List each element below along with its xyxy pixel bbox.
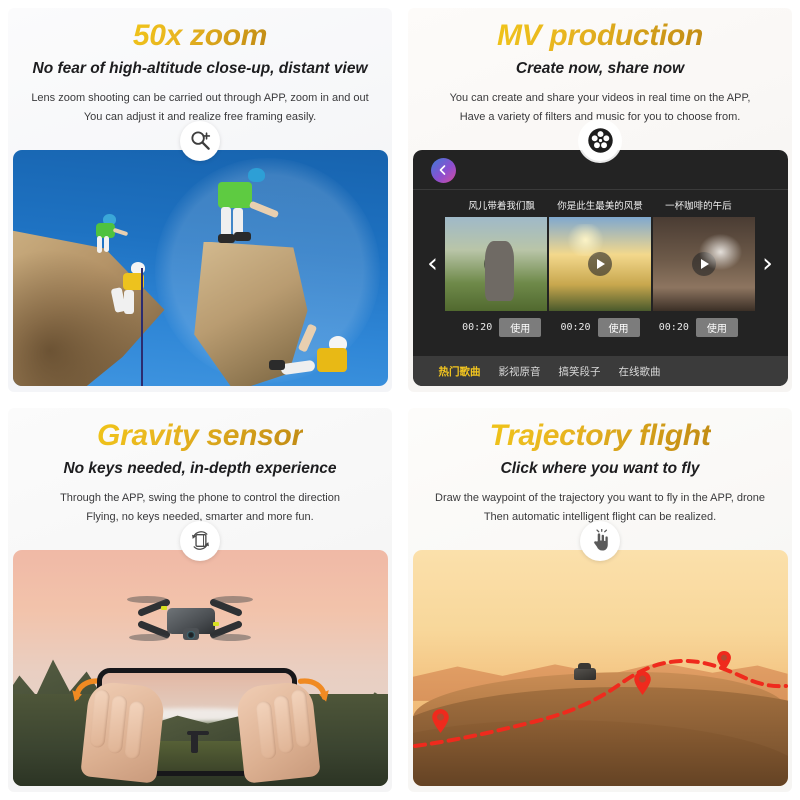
clip-duration: 00:20 <box>560 322 590 333</box>
tab-movie-audio[interactable]: 影视原音 <box>499 364 541 379</box>
media-mv: 风儿带着我们飘 你是此生最美的风景 一杯咖啡的午后 ‹ <box>413 140 788 401</box>
panel-gravity-sensor: Gravity sensor No keys needed, in-depth … <box>0 400 400 800</box>
panel-headline: 50x zoom <box>133 21 267 51</box>
clip-duration: 00:20 <box>462 322 492 333</box>
climber-figure <box>208 168 286 254</box>
tab-hot-songs[interactable]: 热门歌曲 <box>439 364 481 379</box>
clip-title-row: 风儿带着我们飘 你是此生最美的风景 一杯咖啡的午后 <box>413 190 788 212</box>
use-clip-button[interactable]: 使用 <box>696 318 738 337</box>
waypoint-pin[interactable] <box>431 708 450 734</box>
media-gravity <box>13 540 388 800</box>
right-hand <box>235 680 321 783</box>
clip-thumbnail[interactable] <box>549 217 651 311</box>
waypoint-pin[interactable] <box>716 650 732 672</box>
use-clip-button[interactable]: 使用 <box>499 318 541 337</box>
chevron-left-icon <box>437 164 449 176</box>
climber-figure <box>275 318 359 387</box>
drone-phone-photo <box>13 550 388 787</box>
feature-grid: 50x zoom No fear of high-altitude close-… <box>0 0 800 800</box>
use-clip-button[interactable]: 使用 <box>598 318 640 337</box>
panel-headline: Gravity sensor <box>97 421 303 451</box>
music-category-tabs: 热门歌曲 影视原音 搞笑段子 在线歌曲 <box>413 356 788 386</box>
clip-thumbnail[interactable] <box>653 217 755 311</box>
clip-title: 一杯咖啡的午后 <box>649 198 747 212</box>
panel-subhead: Create now, share now <box>516 60 684 78</box>
magnifier-plus-icon <box>180 121 220 161</box>
panel-headline: Trajectory flight <box>489 421 710 451</box>
panel-subhead: Click where you want to fly <box>501 460 700 478</box>
desc-line-1: Through the APP, swing the phone to cont… <box>60 492 340 504</box>
waypoint-pin[interactable] <box>633 670 652 696</box>
clip-meta-row: 00:20 使用 00:20 使用 00:20 使用 <box>413 311 788 337</box>
panel-zoom: 50x zoom No fear of high-altitude close-… <box>0 0 400 400</box>
desc-line-1: Draw the waypoint of the trajectory you … <box>435 492 765 504</box>
panel-subhead: No fear of high-altitude close-up, dista… <box>33 60 368 78</box>
climber-figure <box>109 262 153 338</box>
film-reel-icon <box>580 121 620 161</box>
panel-mv-production: MV production Create now, share now You … <box>400 0 800 400</box>
clip-title: 风儿带着我们飘 <box>453 198 551 212</box>
drone <box>131 592 249 650</box>
tab-online-songs[interactable]: 在线歌曲 <box>619 364 661 379</box>
tap-hand-icon <box>580 521 620 561</box>
tab-funny-clips[interactable]: 搞笑段子 <box>559 364 601 379</box>
clip-title: 你是此生最美的风景 <box>551 198 649 212</box>
panel-headline: MV production <box>497 21 703 51</box>
left-hand <box>80 680 166 783</box>
desc-line-1: You can create and share your videos in … <box>450 92 751 104</box>
play-icon[interactable] <box>692 252 716 276</box>
next-clip-button[interactable]: › <box>756 250 780 277</box>
play-icon[interactable] <box>484 252 508 276</box>
climber-figure <box>91 214 131 260</box>
play-icon[interactable] <box>588 252 612 276</box>
desc-line-1: Lens zoom shooting can be carried out th… <box>31 92 368 104</box>
desert-trajectory-photo <box>413 550 788 787</box>
clip-thumbnail[interactable] <box>445 217 547 311</box>
person-silhouette <box>191 733 198 753</box>
clip-duration: 00:20 <box>659 322 689 333</box>
prev-clip-button[interactable]: ‹ <box>421 250 445 277</box>
mv-app-screen: 风儿带着我们飘 你是此生最美的风景 一杯咖啡的午后 ‹ <box>413 150 788 387</box>
phone-rotate-icon <box>180 521 220 561</box>
clip-thumbnail-row <box>445 217 756 311</box>
media-trajectory <box>413 540 788 800</box>
panel-trajectory-flight: Trajectory flight Click where you want t… <box>400 400 800 800</box>
panel-subhead: No keys needed, in-depth experience <box>63 460 336 478</box>
media-zoom <box>13 140 388 401</box>
back-button[interactable] <box>431 158 456 183</box>
climbing-photo <box>13 150 388 387</box>
